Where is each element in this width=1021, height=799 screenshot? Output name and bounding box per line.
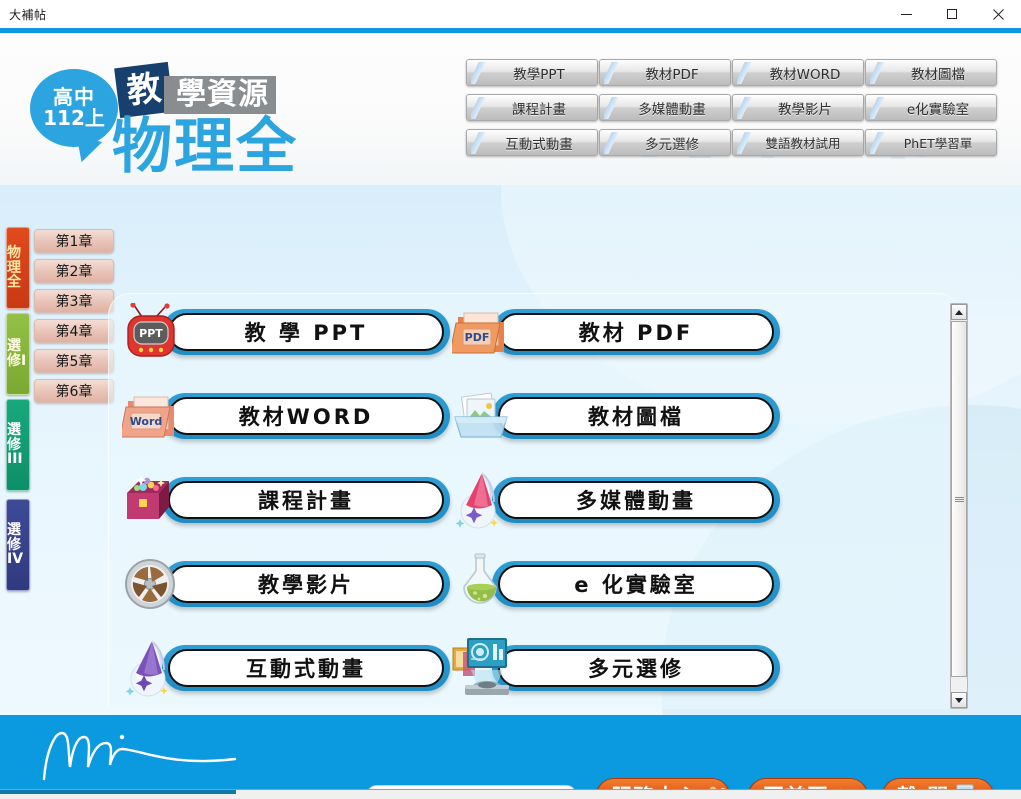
maximize-button[interactable] <box>929 0 975 28</box>
topnav-item-10[interactable]: 雙語教材試用 <box>732 129 864 156</box>
slash-icon <box>737 97 751 119</box>
window-controls <box>883 0 1021 28</box>
topnav-label: 教材PDF <box>631 63 698 83</box>
topnav-label: 課程計畫 <box>498 98 566 118</box>
film-reel-icon <box>120 553 182 615</box>
sidebar-subject-0[interactable]: 物理全 <box>6 227 30 309</box>
minimize-icon <box>901 14 912 15</box>
topnav-label: 教學PPT <box>499 63 565 83</box>
resource-label-box: 教學影片 <box>168 565 444 603</box>
header: 高中 112上 教 學資源 物理全 教學PPT 教材PDF 教材WORD 教材圖… <box>0 33 1021 185</box>
slash-icon <box>471 62 485 84</box>
resource-item-9[interactable]: 多元選修 <box>450 641 780 697</box>
resource-pill: 互動式動畫 <box>162 645 450 691</box>
grade-badge-line1: 高中 <box>53 87 95 108</box>
app-body: 高中 112上 教 學資源 物理全 教學PPT 教材PDF 教材WORD 教材圖… <box>0 33 1021 799</box>
page-title: 物理全 <box>112 117 298 177</box>
chevron-down-icon <box>955 698 963 703</box>
sidebar-chapter-3[interactable]: 第4章 <box>34 319 114 343</box>
topnav-label: PhET學習單 <box>890 133 973 152</box>
sidebar-chapter-1[interactable]: 第2章 <box>34 259 114 283</box>
topnav-label: e化實驗室 <box>893 98 969 118</box>
resource-label-box: 教材 PDF <box>498 313 774 351</box>
minimize-button[interactable] <box>883 0 929 28</box>
chevron-up-icon <box>955 310 963 315</box>
sidebar-chapter-4[interactable]: 第5章 <box>34 349 114 373</box>
content-scrollbar[interactable] <box>950 303 968 709</box>
topnav-item-7[interactable]: e化實驗室 <box>865 94 997 121</box>
resource-label-box: 多元選修 <box>498 649 774 687</box>
resource-item-1[interactable]: PDF 教材 PDF <box>450 305 780 361</box>
sidebar-subject-3[interactable]: 選修IV <box>6 499 30 591</box>
chapter-label: 第6章 <box>56 381 93 401</box>
slash-icon <box>737 62 751 84</box>
resource-label: 互動式動畫 <box>246 653 366 683</box>
resource-item-6[interactable]: 教學影片 <box>120 557 450 613</box>
folder-word-icon: Word <box>120 385 182 447</box>
resource-label-box: 教材圖檔 <box>498 397 774 435</box>
resource-pill: 多元選修 <box>492 645 780 691</box>
topnav-label: 教材WORD <box>756 63 841 83</box>
topnav-item-6[interactable]: 教學影片 <box>732 94 864 121</box>
resource-label-box: 教 學 PPT <box>168 313 444 351</box>
resource-pill: 教材WORD <box>162 393 450 439</box>
slash-icon <box>604 62 618 84</box>
svg-text:PDF: PDF <box>465 331 490 344</box>
topnav-item-9[interactable]: 多元選修 <box>599 129 731 156</box>
topnav-item-5[interactable]: 多媒體動畫 <box>599 94 731 121</box>
resource-item-7[interactable]: e 化實驗室 <box>450 557 780 613</box>
slash-icon <box>604 132 618 154</box>
content-stage: 物理全 選修I 選修III 選修IV 第1章 第2章 第3章 第4章 第5章 第… <box>0 185 1021 715</box>
logo-subtitle: 學資源 <box>164 76 276 114</box>
chapter-label: 第2章 <box>56 261 93 281</box>
close-icon <box>993 9 1004 20</box>
scrollbar-grip-icon <box>955 496 964 503</box>
slash-icon <box>870 132 884 154</box>
treasure-chest-icon <box>120 469 182 531</box>
chapter-label: 第3章 <box>56 291 93 311</box>
topnav-label: 雙語教材試用 <box>755 133 840 152</box>
sidebar-chapter-5[interactable]: 第6章 <box>34 379 114 403</box>
monitor-projector-icon <box>446 629 522 705</box>
topnav-item-1[interactable]: 教材PDF <box>599 59 731 86</box>
sidebar-subject-2[interactable]: 選修III <box>6 399 30 491</box>
slash-icon <box>870 62 884 84</box>
resource-pill: e 化實驗室 <box>492 561 780 607</box>
magic-hat-purple-icon <box>120 637 182 699</box>
topnav-label: 教學影片 <box>764 98 832 118</box>
chapter-label: 第4章 <box>56 321 93 341</box>
topnav-label: 多元選修 <box>631 133 699 153</box>
window-titlebar: 大補帖 <box>0 0 1021 28</box>
resource-label: e 化實驗室 <box>574 569 698 599</box>
resource-label-box: 課程計畫 <box>168 481 444 519</box>
resource-pill: 教學影片 <box>162 561 450 607</box>
resource-grid: PPT 教 學 PPT PDF <box>120 305 820 705</box>
resource-item-0[interactable]: PPT 教 學 PPT <box>120 305 450 361</box>
resource-pill: 教 學 PPT <box>162 309 450 355</box>
flask-icon <box>450 553 512 615</box>
resource-label: 課程計畫 <box>258 485 354 515</box>
topnav-item-11[interactable]: PhET學習單 <box>865 129 997 156</box>
window-title: 大補帖 <box>0 6 47 23</box>
resource-label-box: e 化實驗室 <box>498 565 774 603</box>
slash-icon <box>604 97 618 119</box>
scroll-up-button[interactable] <box>951 304 967 320</box>
grade-badge-line2: 112上 <box>43 108 105 129</box>
resource-pill: 多媒體動畫 <box>492 477 780 523</box>
sidebar-chapter-0[interactable]: 第1章 <box>34 229 114 253</box>
chapter-label: 第5章 <box>56 351 93 371</box>
resource-pill: 課程計畫 <box>162 477 450 523</box>
resource-pill: 教材圖檔 <box>492 393 780 439</box>
svg-text:PPT: PPT <box>139 327 163 340</box>
close-button[interactable] <box>975 0 1021 28</box>
slash-icon <box>471 132 485 154</box>
sidebar-chapter-2[interactable]: 第3章 <box>34 289 114 313</box>
resource-pill: 教材 PDF <box>492 309 780 355</box>
top-nav: 教學PPT 教材PDF 教材WORD 教材圖檔 課程計畫 多媒體動畫 教學影片 … <box>466 59 1006 156</box>
taskbar-strip <box>0 789 1021 799</box>
resource-label: 多元選修 <box>588 653 684 683</box>
resource-item-2[interactable]: Word 教材WORD <box>120 389 450 445</box>
app-logo: 高中 112上 教 學資源 物理全 <box>14 39 314 185</box>
topnav-item-3[interactable]: 教材圖檔 <box>865 59 997 86</box>
resource-label-box: 教材WORD <box>168 397 444 435</box>
topnav-label: 互動式動畫 <box>491 133 573 153</box>
tv-ppt-icon: PPT <box>120 301 182 363</box>
sidebar: 物理全 選修I 選修III 選修IV 第1章 第2章 第3章 第4章 第5章 第… <box>0 185 110 715</box>
maximize-icon <box>947 9 957 19</box>
photo-box-icon <box>450 385 512 447</box>
magic-hat-pink-icon <box>450 469 512 531</box>
resource-label-box: 互動式動畫 <box>168 649 444 687</box>
sidebar-subject-1[interactable]: 選修I <box>6 313 30 395</box>
resource-item-4[interactable]: 課程計畫 <box>120 473 450 529</box>
topnav-label: 多媒體動畫 <box>624 98 706 118</box>
svg-text:Word: Word <box>130 415 163 428</box>
scroll-down-button[interactable] <box>951 692 967 708</box>
resource-item-5[interactable]: 多媒體動畫 <box>450 473 780 529</box>
chapter-label: 第1章 <box>56 231 93 251</box>
resource-item-3[interactable]: 教材圖檔 <box>450 389 780 445</box>
resource-label: 教材 PDF <box>579 317 693 347</box>
resource-label: 教材WORD <box>239 401 374 431</box>
brand-logo <box>30 723 290 783</box>
resource-label: 教材圖檔 <box>588 401 684 431</box>
topnav-item-4[interactable]: 課程計畫 <box>466 94 598 121</box>
topnav-item-0[interactable]: 教學PPT <box>466 59 598 86</box>
scrollbar-thumb[interactable] <box>951 321 967 677</box>
taskbar-progress <box>0 790 236 794</box>
topnav-item-8[interactable]: 互動式動畫 <box>466 129 598 156</box>
resource-label: 教 學 PPT <box>245 317 368 347</box>
grade-badge: 高中 112上 <box>30 69 118 147</box>
slash-icon <box>471 97 485 119</box>
resource-label: 多媒體動畫 <box>576 485 696 515</box>
resource-item-8[interactable]: 互動式動畫 <box>120 641 450 697</box>
folder-pdf-icon: PDF <box>450 301 512 363</box>
topnav-item-2[interactable]: 教材WORD <box>732 59 864 86</box>
resource-label-box: 多媒體動畫 <box>498 481 774 519</box>
resource-label: 教學影片 <box>258 569 354 599</box>
slash-icon <box>737 132 751 154</box>
topnav-label: 教材圖檔 <box>897 63 965 83</box>
slash-icon <box>870 97 884 119</box>
footer <box>0 715 1021 791</box>
